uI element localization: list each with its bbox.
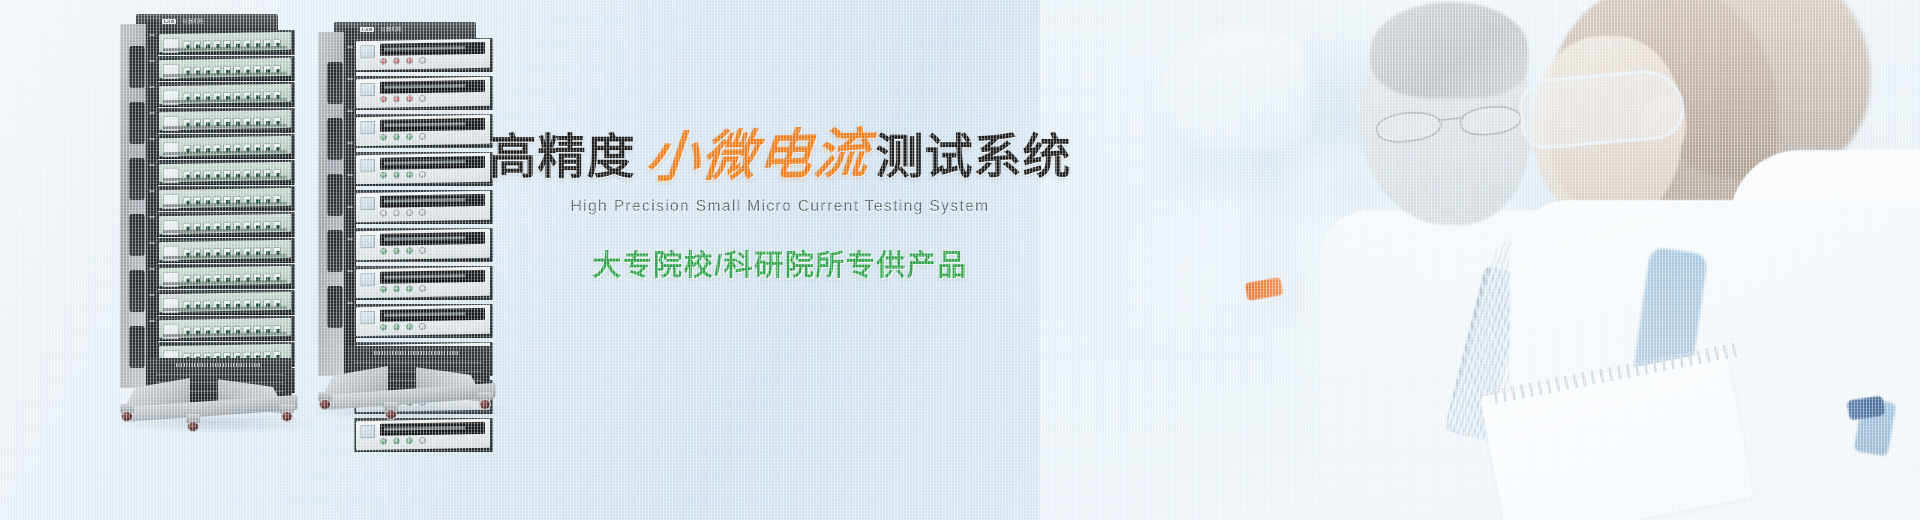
instrument-terminal bbox=[380, 437, 387, 444]
rack-vent-slot bbox=[129, 214, 145, 256]
current-module bbox=[156, 186, 295, 211]
instrument-terminal-row bbox=[380, 205, 486, 219]
rack-vent-slot bbox=[327, 286, 343, 328]
module-faceplate bbox=[159, 136, 291, 157]
instrument-terminal-row bbox=[380, 91, 486, 105]
instrument-terminal bbox=[380, 133, 387, 140]
instrument-faceplate bbox=[356, 153, 490, 185]
caster-wheel-icon bbox=[184, 414, 202, 432]
source-meter-instrument bbox=[354, 190, 493, 224]
current-module bbox=[156, 264, 295, 289]
male-researcher-hair bbox=[1370, 2, 1528, 98]
instrument-terminal bbox=[419, 246, 426, 253]
instrument-faceplate bbox=[356, 115, 490, 147]
headline-suffix: 测试系统 bbox=[876, 134, 1072, 182]
instrument-terminal bbox=[406, 133, 413, 140]
module-faceplate bbox=[159, 214, 291, 235]
rack-logo: LAB bbox=[360, 27, 374, 32]
promotional-banner: LAB 仪器机柜 bbox=[0, 0, 1920, 520]
instrument-terminal bbox=[406, 57, 413, 64]
instrument-terminal-row bbox=[380, 53, 486, 67]
current-module bbox=[156, 238, 295, 263]
rack-base-frame bbox=[114, 386, 306, 426]
instrument-terminal bbox=[406, 171, 413, 178]
instrument-terminal-row bbox=[380, 243, 486, 257]
module-faceplate bbox=[159, 162, 291, 183]
current-module bbox=[156, 212, 295, 237]
source-meter-instrument bbox=[354, 114, 493, 148]
banner-subtitle-chinese: 大专院校/科研院所专供产品 bbox=[520, 242, 1040, 284]
module-port-row bbox=[183, 61, 288, 80]
current-module bbox=[156, 30, 295, 55]
instrument-terminal bbox=[393, 323, 400, 330]
rack-brand-label: LAB 仪器机柜 bbox=[162, 16, 282, 27]
module-faceplate bbox=[159, 58, 291, 79]
module-port-row bbox=[183, 243, 288, 262]
module-port-row bbox=[183, 139, 288, 158]
instrument-terminal bbox=[393, 133, 400, 140]
instrument-badge bbox=[360, 197, 375, 210]
instrument-terminal bbox=[406, 209, 413, 216]
banner-headline: 高精度 小微电流 测试系统 bbox=[520, 128, 1040, 182]
rack-vent-slot bbox=[327, 230, 343, 272]
instrument-terminal bbox=[406, 95, 413, 102]
current-module bbox=[156, 290, 295, 315]
caster-wheel-icon bbox=[316, 392, 334, 410]
instrument-terminal bbox=[393, 95, 400, 102]
source-meter-instrument bbox=[354, 152, 493, 186]
current-module bbox=[156, 160, 295, 185]
lab-blur-dot bbox=[1340, 180, 1366, 206]
banner-subtitle-english: High Precision Small Micro Current Testi… bbox=[520, 198, 1040, 216]
instrument-badge bbox=[360, 273, 375, 286]
instrument-terminal bbox=[419, 56, 426, 63]
rack-vent-slot bbox=[327, 118, 343, 160]
rack-vent-slot bbox=[327, 62, 343, 104]
current-module bbox=[156, 316, 295, 341]
current-module bbox=[156, 82, 295, 107]
instrument-faceplate bbox=[356, 267, 490, 299]
instrument-terminal-row bbox=[380, 281, 486, 295]
laboratory-researchers-photo bbox=[1040, 0, 1920, 520]
caster-wheel-icon bbox=[118, 404, 136, 422]
rack-vent-slot bbox=[129, 102, 145, 144]
module-port-row bbox=[183, 269, 288, 288]
module-faceplate bbox=[159, 32, 291, 53]
source-meter-instrument bbox=[354, 38, 493, 72]
instrument-badge bbox=[360, 159, 375, 172]
module-faceplate bbox=[159, 240, 291, 261]
instrument-terminal bbox=[419, 132, 426, 139]
caster-wheel-icon bbox=[382, 402, 400, 420]
instrument-terminal bbox=[393, 209, 400, 216]
rack-label-strip bbox=[176, 363, 262, 367]
rack-label-strip bbox=[374, 351, 460, 355]
instrument-badge bbox=[360, 121, 375, 134]
rack-brand-text: 仪器机柜 bbox=[380, 26, 402, 33]
current-module bbox=[156, 56, 295, 81]
headline-highlight: 小微电流 bbox=[643, 126, 872, 185]
instrument-terminal bbox=[419, 284, 426, 291]
instrument-faceplate bbox=[356, 77, 490, 109]
instrument-terminal bbox=[393, 171, 400, 178]
rack-vent-slot bbox=[327, 174, 343, 216]
caster-wheel-icon bbox=[278, 404, 296, 422]
module-faceplate bbox=[159, 292, 291, 313]
instrument-terminal bbox=[406, 323, 413, 330]
rack-vent-slot bbox=[129, 326, 145, 368]
instrument-terminal bbox=[380, 95, 387, 102]
module-port-row bbox=[183, 295, 288, 314]
source-meter-instrument bbox=[354, 304, 493, 338]
instrument-badge bbox=[360, 311, 375, 324]
rack-vent-slot bbox=[129, 46, 145, 88]
instrument-terminal bbox=[393, 437, 400, 444]
module-port-row bbox=[183, 165, 288, 184]
instrument-terminal bbox=[406, 437, 413, 444]
source-meter-instrument bbox=[354, 266, 493, 300]
module-faceplate bbox=[159, 188, 291, 209]
instrument-terminal bbox=[406, 247, 413, 254]
instrument-terminal bbox=[393, 247, 400, 254]
instrument-terminal bbox=[406, 285, 413, 292]
module-faceplate bbox=[159, 318, 291, 339]
instrument-badge bbox=[360, 45, 375, 58]
instrument-rack-one: LAB 仪器机柜 bbox=[120, 14, 295, 434]
source-meter-instrument bbox=[354, 228, 493, 262]
instrument-rack-two: LAB 仪器机柜 bbox=[318, 22, 493, 422]
module-port-row bbox=[183, 113, 288, 132]
instrument-faceplate bbox=[356, 191, 490, 223]
instrument-terminal bbox=[380, 57, 387, 64]
source-meter-instrument bbox=[354, 418, 493, 452]
current-module bbox=[156, 134, 295, 159]
instrument-terminal bbox=[380, 323, 387, 330]
instrument-terminal bbox=[380, 171, 387, 178]
instrument-terminal-row bbox=[380, 129, 486, 143]
instrument-faceplate bbox=[356, 39, 490, 71]
headline-prefix: 高精度 bbox=[488, 134, 635, 182]
instrument-terminal-row bbox=[380, 433, 486, 447]
source-meter-instrument bbox=[354, 76, 493, 110]
instrument-terminal bbox=[419, 208, 426, 215]
rack-one-module-stack bbox=[156, 30, 295, 394]
rack-brand-label: LAB 仪器机柜 bbox=[360, 24, 480, 35]
instrument-terminal bbox=[419, 436, 426, 443]
instrument-terminal bbox=[380, 285, 387, 292]
module-port-row bbox=[183, 87, 288, 106]
instrument-terminal-row bbox=[380, 319, 486, 333]
safety-goggles-icon bbox=[1517, 67, 1686, 151]
instrument-terminal bbox=[393, 57, 400, 64]
rack-brand-text: 仪器机柜 bbox=[182, 18, 204, 25]
module-faceplate bbox=[159, 84, 291, 105]
module-port-row bbox=[183, 321, 288, 340]
instrument-faceplate bbox=[356, 229, 490, 261]
instrument-faceplate bbox=[356, 305, 490, 337]
rack-logo: LAB bbox=[162, 19, 176, 24]
current-module bbox=[156, 108, 295, 133]
instrument-terminal-row bbox=[380, 167, 486, 181]
module-port-row bbox=[183, 35, 288, 54]
instrument-terminal bbox=[419, 322, 426, 329]
rack-vent-slot bbox=[129, 270, 145, 312]
instrument-faceplate bbox=[356, 419, 490, 451]
banner-text-block: 高精度 小微电流 测试系统 High Precision Small Micro… bbox=[520, 128, 1040, 284]
instrument-terminal bbox=[393, 285, 400, 292]
instrument-terminal bbox=[419, 170, 426, 177]
module-port-row bbox=[183, 191, 288, 210]
rack-base-frame bbox=[312, 374, 504, 414]
instrument-badge bbox=[360, 235, 375, 248]
caster-wheel-icon bbox=[476, 392, 494, 410]
module-faceplate bbox=[159, 266, 291, 287]
instrument-badge bbox=[360, 425, 375, 438]
instrument-badge bbox=[360, 83, 375, 96]
rack-vent-slot bbox=[129, 158, 145, 200]
instrument-terminal bbox=[380, 247, 387, 254]
module-port-row bbox=[183, 217, 288, 236]
module-faceplate bbox=[159, 110, 291, 131]
instrument-terminal bbox=[419, 94, 426, 101]
instrument-terminal bbox=[380, 209, 387, 216]
